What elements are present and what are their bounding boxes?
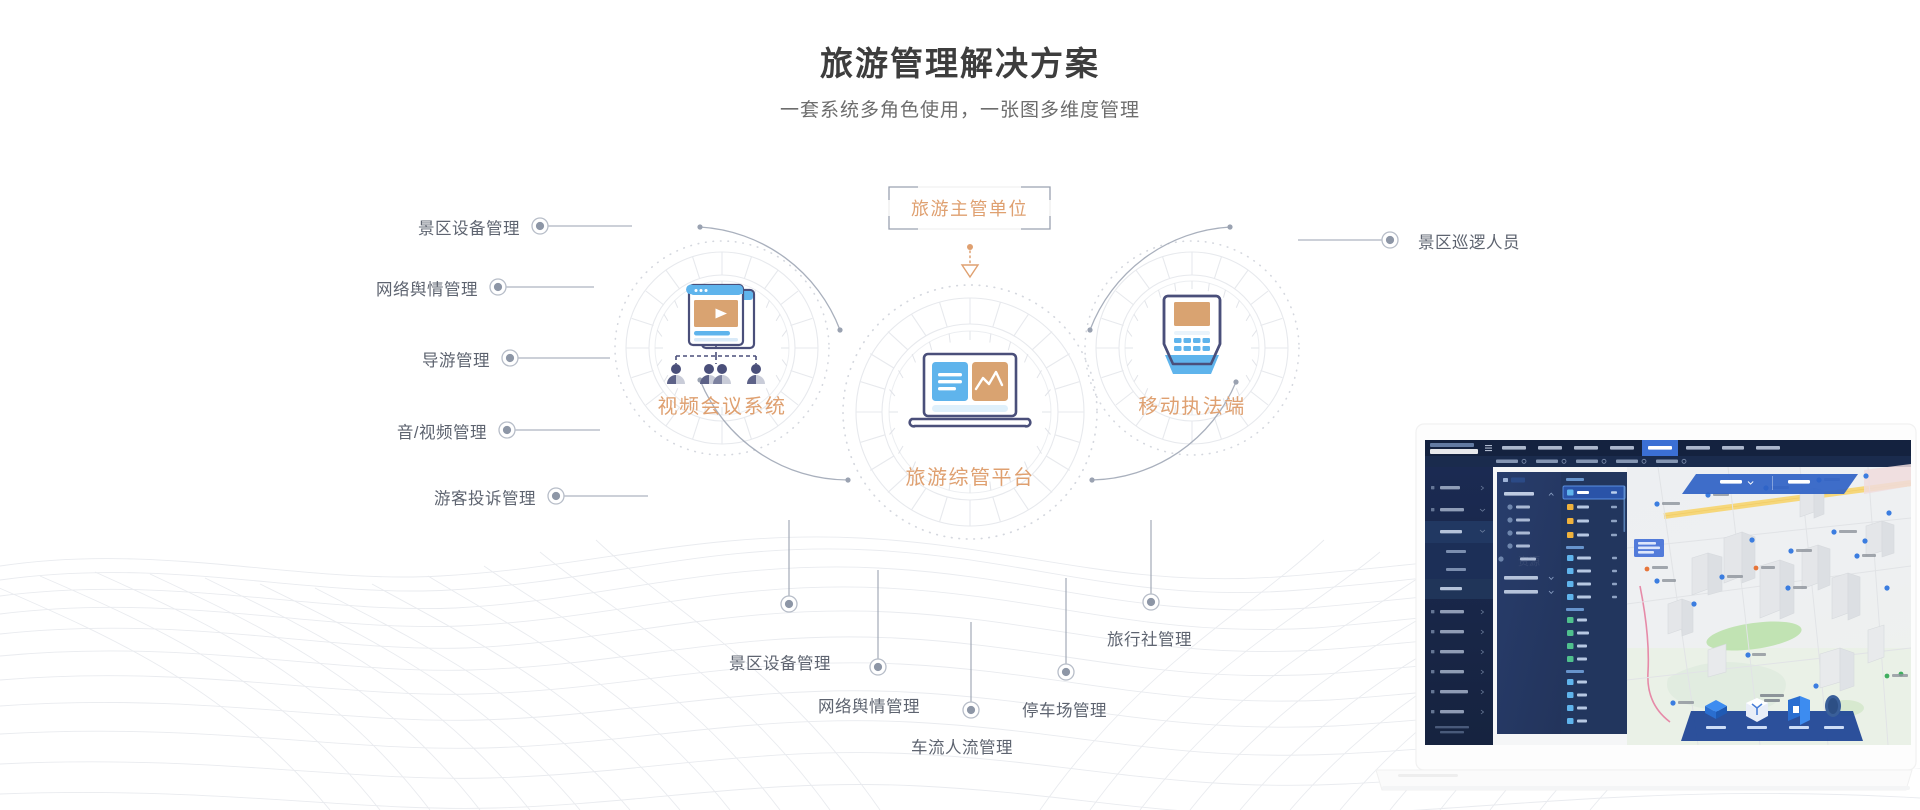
console-layers-panel[interactable] [1561, 472, 1627, 734]
console-tab-strip[interactable] [1425, 456, 1911, 467]
console-map-view[interactable] [1627, 464, 1911, 745]
supervisor-arrow [962, 244, 978, 277]
page-title: 旅游管理解决方案 [0, 42, 1920, 86]
label-bottom-travel-agency-management[interactable]: 旅行社管理 [1107, 626, 1192, 650]
video-window-icon [667, 285, 765, 384]
header: 旅游管理解决方案 一套系统多角色使用，一张图多维度管理 [0, 42, 1920, 124]
console-top-nav[interactable] [1425, 440, 1911, 456]
label-left-audio-video-management[interactable]: 音/视频管理 [247, 419, 487, 443]
label-bottom-network-opinion-management[interactable]: 网络舆情管理 [818, 693, 920, 717]
label-bottom-parking-management[interactable]: 停车场管理 [1022, 697, 1107, 721]
console-sidebar[interactable] [1425, 467, 1493, 745]
map-mode-toggle[interactable] [1682, 474, 1858, 494]
right-connector-dots [1382, 232, 1398, 248]
laptop-screen: 资源 [1425, 440, 1911, 745]
hub-caption-mobile-enforcement: 移动执法端 [1092, 390, 1292, 419]
laptop-mockup: 资源 [1368, 408, 1920, 810]
person-group-icon [667, 364, 685, 384]
handheld-terminal-icon [1164, 296, 1220, 374]
hub-caption-video-conference: 视频会议系统 [622, 390, 822, 419]
label-left-visitor-complaint-management[interactable]: 游客投诉管理 [296, 485, 536, 509]
label-left-scenic-device-management[interactable]: 景区设备管理 [280, 215, 520, 239]
label-right-scenic-patrol-staff[interactable]: 景区巡逻人员 [1418, 229, 1520, 253]
label-left-network-opinion-management[interactable]: 网络舆情管理 [238, 276, 478, 300]
svg-text:资源: 资源 [1518, 554, 1540, 568]
solution-poster: 旅游管理解决方案 一套系统多角色使用，一张图多维度管理 [0, 0, 1920, 810]
left-connector-dots [490, 218, 564, 504]
hub-caption-tourism-platform: 旅游综管平台 [870, 461, 1070, 490]
console-tree-panel[interactable]: 资源 [1497, 472, 1561, 734]
supervisor-unit-box[interactable]: 旅游主管单位 [888, 186, 1051, 230]
label-bottom-traffic-flow-management[interactable]: 车流人流管理 [911, 734, 1013, 758]
label-left-guide-management[interactable]: 导游管理 [250, 347, 490, 371]
label-bottom-scenic-device-management[interactable]: 景区设备管理 [729, 650, 831, 674]
bottom-connectors [789, 520, 1151, 702]
page-subtitle: 一套系统多角色使用，一张图多维度管理 [0, 98, 1920, 124]
laptop-dashboard-icon [910, 354, 1031, 426]
supervisor-unit-label: 旅游主管单位 [888, 186, 1051, 230]
